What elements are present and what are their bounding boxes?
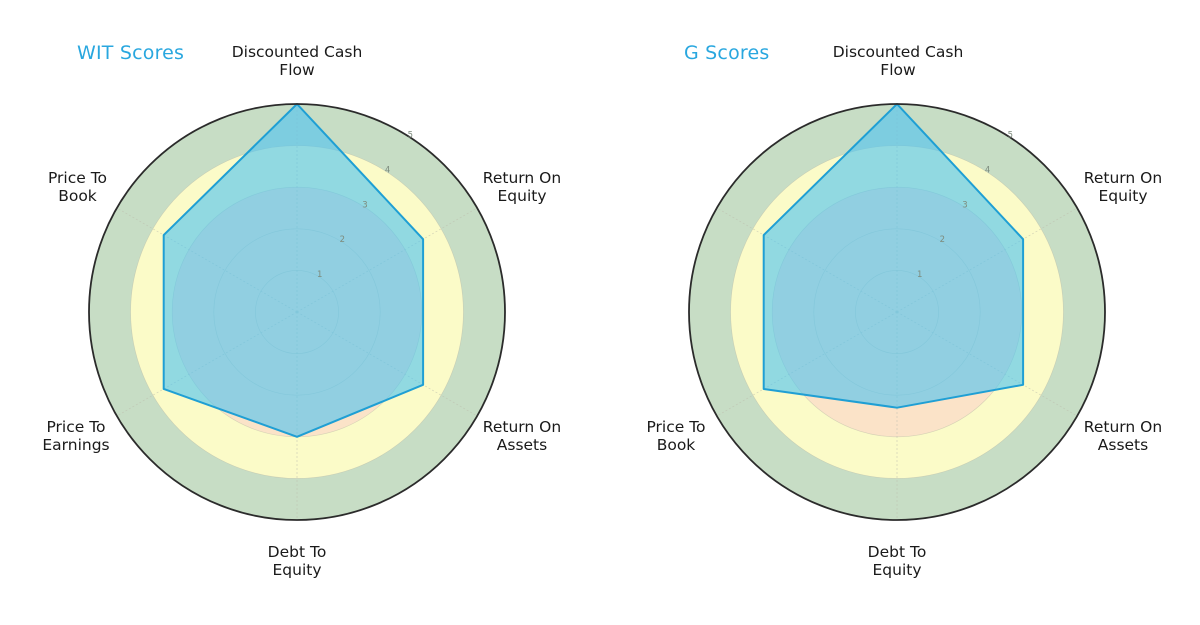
- axis-label-debt-to-equity-wit: Debt To Equity: [237, 543, 357, 580]
- radial-tick-label-4: 4: [985, 165, 990, 175]
- radial-tick-label-3: 3: [962, 200, 967, 210]
- radial-tick-label-1: 1: [317, 270, 322, 280]
- axis-label-return-on-assets-wit: Return On Assets: [462, 418, 582, 455]
- radial-tick-label-2: 2: [940, 235, 945, 245]
- radar-plot-g: 12345: [600, 0, 1200, 625]
- axis-label-price-to-earnings-g: Price To Book: [613, 418, 739, 455]
- radial-tick-label-2: 2: [340, 235, 345, 245]
- axis-label-return-on-equity-g: Return On Equity: [1063, 169, 1183, 206]
- radial-tick-label-3: 3: [362, 200, 367, 210]
- axis-label-price-to-earnings-wit: Price To Earnings: [13, 418, 139, 455]
- radial-tick-label-5: 5: [1008, 131, 1013, 141]
- radar-plot-wit: 12345: [0, 0, 600, 625]
- axis-label-price-to-book-wit: Price To Book: [16, 169, 139, 206]
- panel-g-scores: G Scores 12345 Discounted Cash Flow Retu…: [600, 0, 1200, 625]
- radial-tick-label-4: 4: [385, 165, 390, 175]
- axis-label-discounted-cash-flow-wit: Discounted Cash Flow: [197, 43, 397, 80]
- axis-label-discounted-cash-flow-g: Discounted Cash Flow: [798, 43, 998, 80]
- axis-label-return-on-assets-g: Return On Assets: [1063, 418, 1183, 455]
- radial-tick-label-5: 5: [408, 131, 413, 141]
- axis-label-return-on-equity-wit: Return On Equity: [462, 169, 582, 206]
- radar-chart-figure: WIT Scores 12345 Discounted Cash Flow Re…: [0, 0, 1200, 625]
- radial-tick-label-1: 1: [917, 270, 922, 280]
- panel-wit-scores: WIT Scores 12345 Discounted Cash Flow Re…: [0, 0, 600, 625]
- axis-label-debt-to-equity-g: Debt To Equity: [837, 543, 957, 580]
